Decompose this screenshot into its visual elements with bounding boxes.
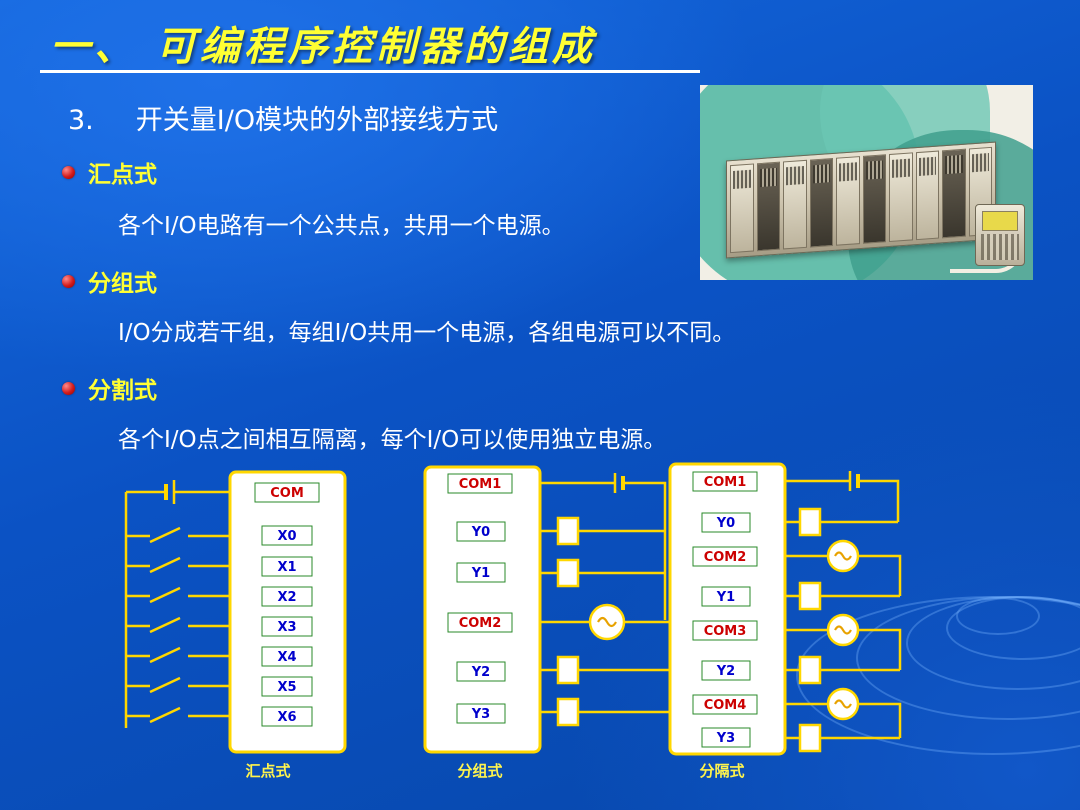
plc-module [730,164,754,254]
plc-module [783,160,807,250]
terminal-label: X4 [277,650,296,665]
bullet-dot-icon [62,275,75,288]
section-heading-number: 3. [68,105,94,136]
slide-canvas: 一、 可编程序控制器的组成 3.开关量I/O模块的外部接线方式 汇点式 各个I/… [0,0,1080,810]
load-symbol [800,725,820,751]
terminal-label: Y3 [716,731,735,746]
diagram-isolated-type: COM1 Y0 COM2 Y1 COM3 Y2 COM4 Y3 [660,460,960,770]
bullet-body-1: 各个I/O电路有一个公共点，共用一个电源。 [118,206,565,240]
terminal-label: X3 [277,620,296,635]
load-symbol [558,699,578,725]
wiring-diagrams: COM X0 X1 X2 X3 X4 X5 X6 [0,455,1080,810]
plc-module [863,154,887,244]
load-symbol [800,657,820,683]
slide-title: 一、 可编程序控制器的组成 [50,14,596,72]
section-heading-text: 开关量I/O模块的外部接线方式 [136,105,498,136]
terminal-label: Y1 [716,590,735,605]
terminal-label: COM1 [459,477,502,492]
terminal-label: X5 [277,680,296,695]
terminal-label: COM2 [459,616,502,631]
load-symbol [800,583,820,609]
handheld-keypad [981,234,1019,260]
load-symbol [558,560,578,586]
bullet-label-2: 分组式 [88,264,157,298]
wiring-lines [540,473,670,725]
bullet-body-2: I/O分成若干组，每组I/O共用一个电源，各组电源可以不同。 [118,313,735,347]
terminal-label: COM [270,486,304,501]
section-heading: 3.开关量I/O模块的外部接线方式 [68,98,498,137]
terminal-label: X0 [277,529,296,544]
terminal-label: COM4 [704,698,747,713]
plc-rack-photo [700,85,1033,280]
bullet-dot-icon [62,382,75,395]
bullet-label-1: 汇点式 [88,155,157,189]
terminal-label: Y3 [471,707,490,722]
terminal-label: COM1 [704,475,747,490]
wiring-lines [126,480,230,728]
terminal-label: X1 [277,560,296,575]
terminal-label: Y0 [471,525,490,540]
handheld-screen [982,211,1018,231]
terminal-label: COM2 [704,550,747,565]
plc-module [889,152,913,242]
terminal-label: X2 [277,590,296,605]
diagram-caption-3: 分隔式 [662,760,782,781]
wiring-lines [785,471,900,751]
plc-module [942,149,966,239]
plc-module [757,162,781,252]
plc-module [810,158,834,248]
plc-module [916,151,940,241]
bullet-body-3: 各个I/O点之间相互隔离，每个I/O可以使用独立电源。 [118,420,666,454]
terminal-label: Y1 [471,566,490,581]
bullet-dot-icon [62,166,75,179]
plc-module [836,156,860,246]
terminal-label: Y2 [471,665,490,680]
bullet-item-2: 分组式 [62,264,157,298]
load-symbol [558,657,578,683]
terminal-label: Y2 [716,664,735,679]
diagram-caption-2: 分组式 [420,760,540,781]
terminal-label: X6 [277,710,296,725]
bullet-label-3: 分割式 [88,371,157,405]
handheld-programmer [975,204,1025,266]
load-symbol [558,518,578,544]
diagram-caption-1: 汇点式 [208,760,328,781]
bullet-item-3: 分割式 [62,371,157,405]
load-symbol [800,509,820,535]
terminal-label: Y0 [716,516,735,531]
bullet-item-1: 汇点式 [62,155,157,189]
terminal-label: COM3 [704,624,747,639]
title-underline [40,70,700,73]
